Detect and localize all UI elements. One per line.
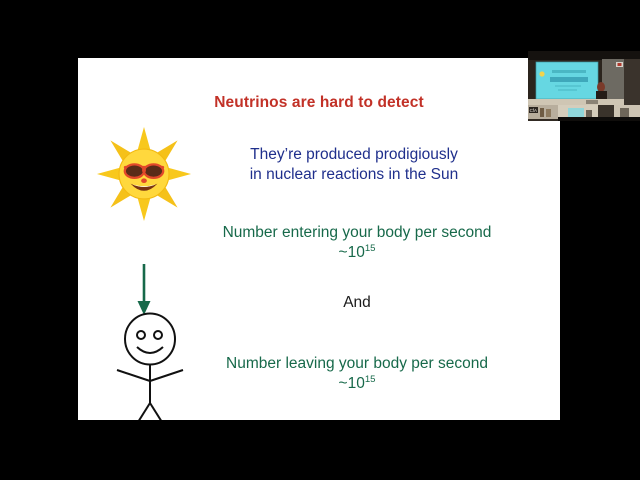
leaving-label: Number leaving your body per second (172, 354, 542, 374)
slide-illustration-column (88, 116, 208, 416)
blue-statement-line-1: They’re produced prodigiously (184, 145, 524, 165)
stick-figure-person-icon (106, 311, 194, 420)
presentation-slide: Neutrinos are hard to detect They’re pro… (78, 58, 560, 420)
video-player-screen: Neutrinos are hard to detect They’re pro… (0, 0, 640, 480)
cfa-logo-text: CfA (530, 108, 537, 113)
blue-statement-block: They’re produced prodigiously in nuclear… (184, 145, 524, 185)
connector-and: And (172, 293, 542, 313)
down-arrow-icon-top (132, 264, 156, 316)
green-statement-block-entering: Number entering your body per second ~10… (172, 223, 542, 263)
entering-value-exponent: 15 (365, 243, 376, 254)
entering-value-mantissa: ~10 (339, 244, 365, 261)
green-statement-block-leaving: Number leaving your body per second ~101… (172, 354, 542, 394)
leaving-value: ~1015 (172, 374, 542, 394)
entering-label: Number entering your body per second (172, 223, 542, 243)
leaving-value-exponent: 15 (365, 374, 376, 385)
leaving-value-mantissa: ~10 (339, 375, 365, 392)
entering-value: ~1015 (172, 243, 542, 263)
presenter-room-video-feed-lower-strip[interactable]: CfA (528, 105, 640, 121)
sun-with-sunglasses-icon (96, 126, 192, 222)
slide-title: Neutrinos are hard to detect (78, 94, 560, 112)
blue-statement-line-2: in nuclear reactions in the Sun (184, 165, 524, 185)
connector-and-label: And (172, 293, 542, 313)
